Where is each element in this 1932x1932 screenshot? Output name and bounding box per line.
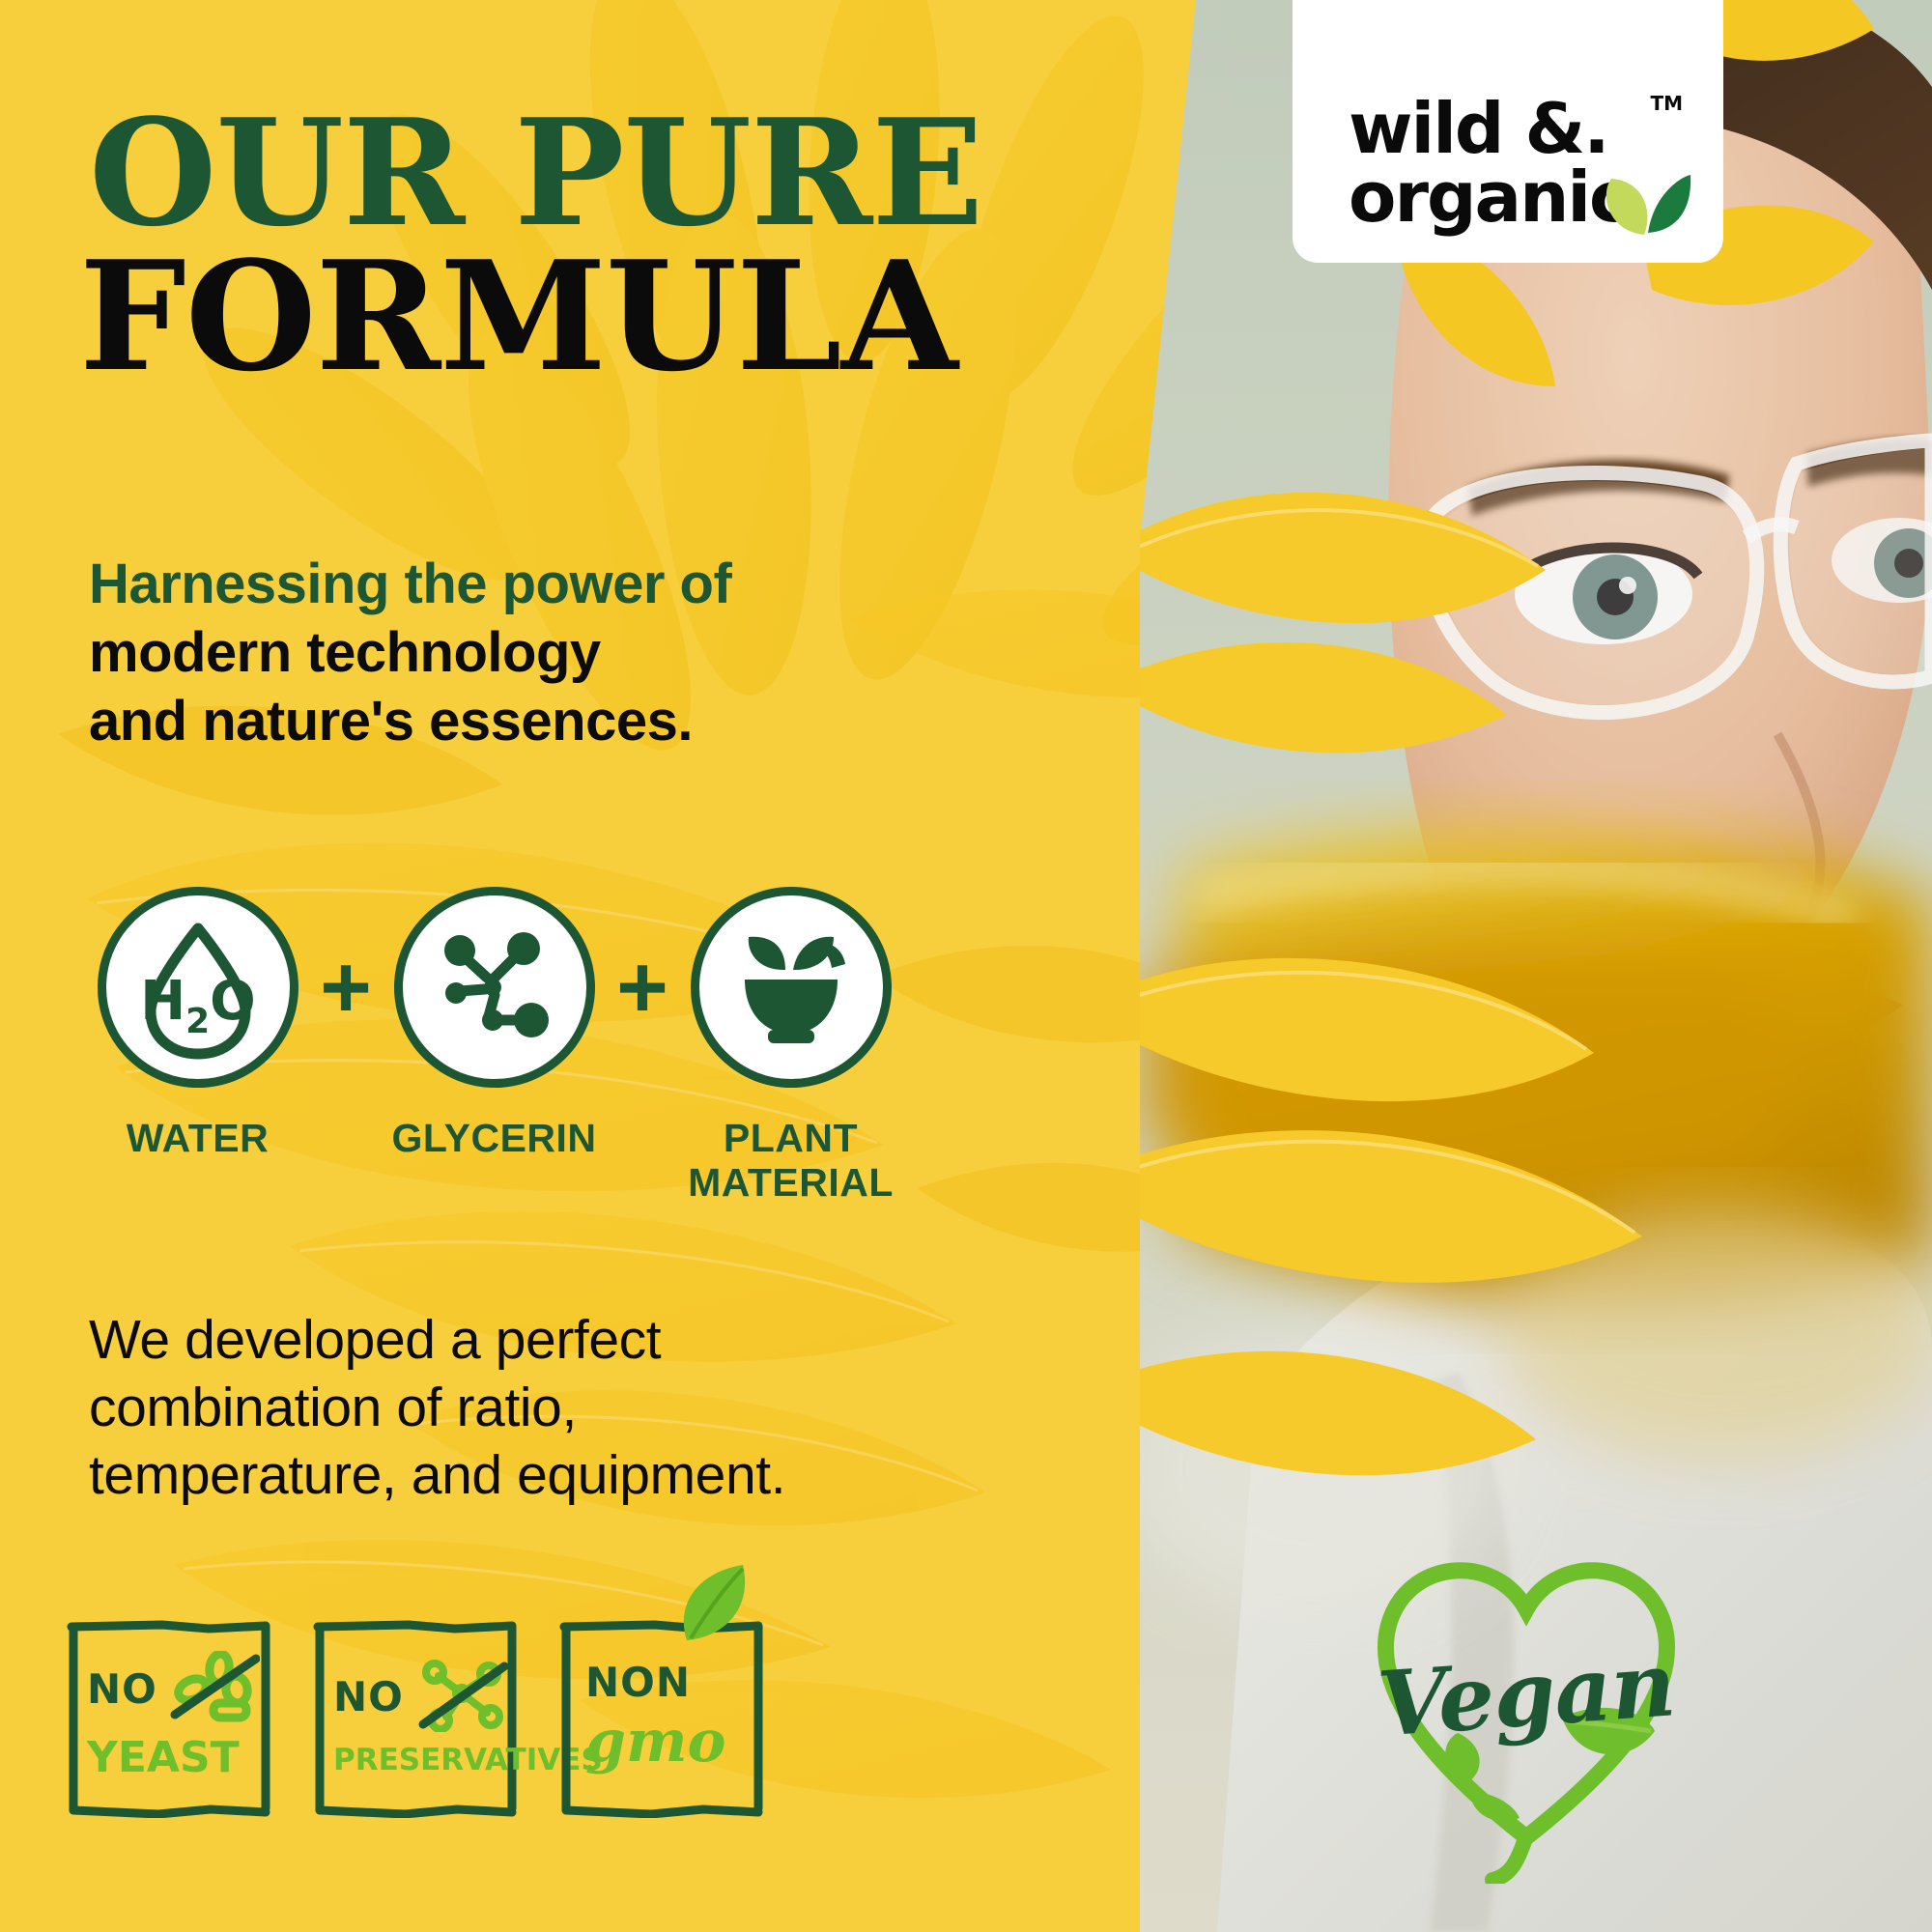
brand-logo-card[interactable]: wild &. organic TM xyxy=(1293,0,1723,263)
badge-word: gmo xyxy=(558,1708,766,1776)
svg-text:H2O: H2O xyxy=(140,970,256,1041)
mortar-and-pestle-icon xyxy=(691,887,892,1088)
plus-separator-1: + xyxy=(306,887,385,1088)
molecule-icon xyxy=(394,887,595,1088)
plus-separator-2: + xyxy=(603,887,682,1088)
water-droplet-h2o-icon: H2O xyxy=(98,887,298,1088)
trademark-symbol: TM xyxy=(1650,92,1683,115)
badge-word: PRESERVATIVES xyxy=(312,1743,520,1777)
leaf-icon xyxy=(671,1563,760,1649)
vegan-badge: Vegan xyxy=(1348,1526,1705,1884)
paragraph-line-3: temperature, and equipment. xyxy=(89,1441,1016,1509)
plant-label-line-1: PLANT xyxy=(724,1116,858,1160)
page-title-line-1: OUR PURE xyxy=(89,101,982,245)
ingredient-label-water: WATER xyxy=(127,1117,270,1161)
yeast-cells-crossed-out-icon xyxy=(167,1651,260,1727)
ingredient-label-plant-material: PLANT MATERIAL xyxy=(688,1117,894,1206)
ingredient-water: H2O WATER xyxy=(89,887,306,1161)
subheading-line-2: modern technology xyxy=(89,619,1036,688)
ingredient-plant-material: PLANT MATERIAL xyxy=(682,887,899,1206)
badge-no-preservatives: NO xyxy=(312,1615,520,1818)
subheading-line-1: Harnessing the power of xyxy=(89,551,1036,619)
badge-word: YEAST xyxy=(66,1733,273,1782)
subheading: Harnessing the power of modern technolog… xyxy=(89,551,1036,755)
badge-prefix: NO xyxy=(333,1673,404,1720)
molecule-crossed-out-icon xyxy=(413,1657,510,1737)
badge-no-yeast: NO xyxy=(66,1615,273,1818)
paragraph-line-1: We developed a perfect xyxy=(89,1306,1016,1374)
badge-non-gmo: NON gmo xyxy=(558,1615,766,1818)
paragraph-line-2: combination of ratio, xyxy=(89,1374,1016,1441)
leaf-icon xyxy=(1600,159,1692,247)
certification-badges: NO xyxy=(66,1615,766,1818)
subheading-line-3: and nature's essences. xyxy=(89,688,1036,756)
badge-prefix: NO xyxy=(87,1665,157,1713)
ingredient-label-glycerin: GLYCERIN xyxy=(391,1117,596,1161)
vegan-label: Vegan xyxy=(1375,1632,1678,1756)
page-title-line-2: FORMULA xyxy=(79,243,957,391)
marketing-banner: wild &. organic TM OUR PURE FORMULA Harn… xyxy=(0,0,1932,1932)
badge-prefix: NON xyxy=(558,1659,766,1706)
content-column: OUR PURE FORMULA Harnessing the power of… xyxy=(0,0,1188,1932)
ingredient-glycerin: GLYCERIN xyxy=(385,887,603,1161)
ingredient-list: H2O WATER + xyxy=(89,887,899,1206)
body-paragraph: We developed a perfect combination of ra… xyxy=(89,1306,1016,1509)
plant-label-line-2: MATERIAL xyxy=(688,1160,894,1205)
logo-line-wild: wild &. xyxy=(1349,96,1667,161)
